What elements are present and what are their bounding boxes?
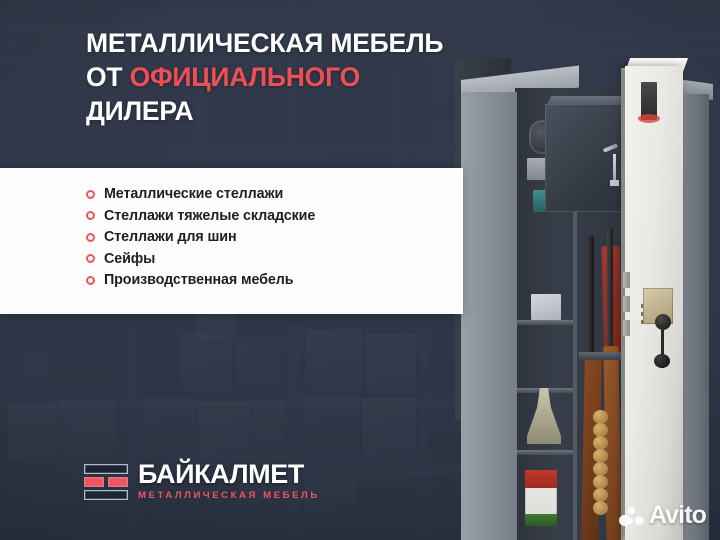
bullet-ring-icon xyxy=(86,233,95,242)
bullet-ring-icon xyxy=(86,254,95,263)
brand-tagline: МЕТАЛЛИЧЕСКАЯ МЕБЕЛЬ xyxy=(138,489,320,503)
list-item: Стеллажи тяжелые складские xyxy=(86,208,315,224)
list-item: Металлические стеллажи xyxy=(86,186,315,202)
feature-label: Сейфы xyxy=(104,251,155,267)
headline-line-2-prefix: ОТ xyxy=(86,62,130,92)
headline: МЕТАЛЛИЧЕСКАЯ МЕБЕЛЬ ОТ ОФИЦИАЛЬНОГО ДИЛ… xyxy=(86,26,486,128)
brand-name: БАЙКАЛМЕТ xyxy=(138,461,320,488)
feature-label: Металлические стеллажи xyxy=(104,186,283,202)
stacked-bars-icon xyxy=(84,464,128,500)
feature-label: Производственная мебель xyxy=(104,272,293,288)
headline-line-2: ОТ ОФИЦИАЛЬНОГО xyxy=(86,60,486,94)
safe-cabinet-image xyxy=(455,58,720,540)
bullet-ring-icon xyxy=(86,190,95,199)
feature-label: Стеллажи тяжелые складские xyxy=(104,208,315,224)
feature-label: Стеллажи для шин xyxy=(104,229,237,245)
list-item: Производственная мебель xyxy=(86,272,315,288)
avito-wordmark: Avito xyxy=(649,503,706,528)
headline-line-3: ДИЛЕРА xyxy=(86,94,486,128)
brand-logo: БАЙКАЛМЕТ МЕТАЛЛИЧЕСКАЯ МЕБЕЛЬ xyxy=(84,461,320,503)
headline-line-2-accent: ОФИЦИАЛЬНОГО xyxy=(130,62,360,92)
bullet-ring-icon xyxy=(86,276,95,285)
avito-watermark: Avito xyxy=(619,503,706,528)
list-item: Стеллажи для шин xyxy=(86,229,315,245)
bullet-ring-icon xyxy=(86,211,95,220)
avito-dots-icon xyxy=(619,505,645,527)
features-list: Металлические стеллажи Стеллажи тяжелые … xyxy=(86,186,315,294)
promo-banner: МЕТАЛЛИЧЕСКАЯ МЕБЕЛЬ ОТ ОФИЦИАЛЬНОГО ДИЛ… xyxy=(0,0,720,540)
headline-line-1: МЕТАЛЛИЧЕСКАЯ МЕБЕЛЬ xyxy=(86,26,486,60)
list-item: Сейфы xyxy=(86,251,315,267)
